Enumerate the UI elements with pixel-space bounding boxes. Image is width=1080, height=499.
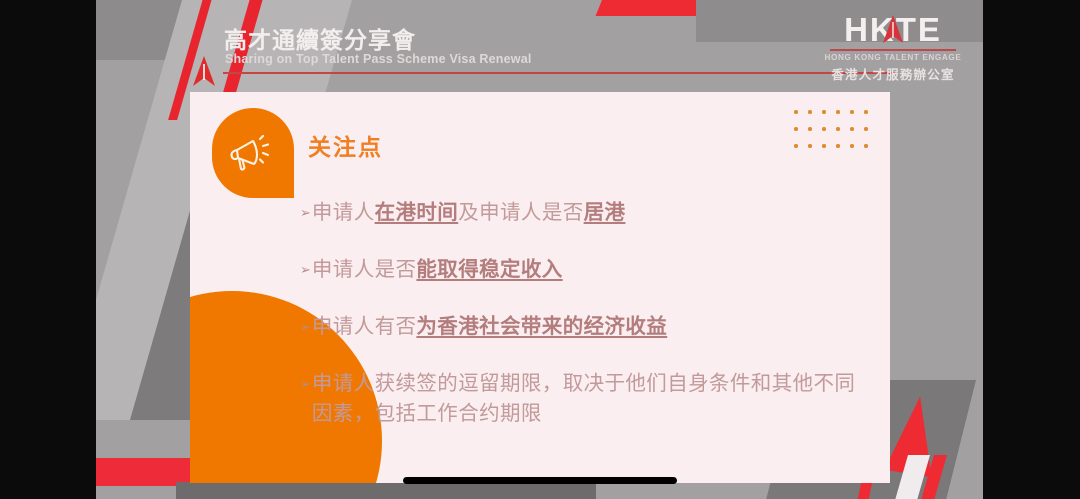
decor-dark-strip-bottom	[176, 482, 596, 499]
bullet-stable-income: ➢申请人是否能取得稳定收入	[300, 255, 870, 285]
bullet-emphasis: 为香港社会带来的经济收益	[416, 315, 667, 338]
page-title: 高才通續簽分享會	[224, 21, 416, 55]
header-divider	[223, 72, 896, 74]
bullet-plain: 申请人	[312, 201, 375, 224]
hkte-logo: HKTE HONG KONG TALENT ENGAGE 香港人才服務辦公室	[819, 12, 967, 78]
decor-dot	[850, 144, 854, 148]
decor-dot	[836, 110, 840, 114]
logo-english-name: HONG KONG TALENT ENGAGE	[819, 53, 967, 62]
decor-dot	[864, 144, 868, 148]
bullet-marker-icon: ➢	[300, 312, 311, 342]
bullet-emphasis: 居港	[584, 201, 626, 224]
decor-dot	[822, 144, 826, 148]
bullet-marker-icon: ➢	[300, 255, 311, 285]
page-subtitle: Sharing on Top Talent Pass Scheme Visa R…	[225, 52, 532, 66]
bullet-text: 申请人有否为香港社会带来的经济收益	[312, 312, 667, 342]
slide-viewer: 高才通續簽分享會 Sharing on Top Talent Pass Sche…	[0, 0, 1080, 499]
decor-dot	[836, 127, 840, 131]
decor-dot	[822, 110, 826, 114]
decor-dot	[822, 127, 826, 131]
dot-grid-decoration	[794, 110, 878, 161]
decor-dot	[794, 127, 798, 131]
bullet-emphasis: 在港时间	[375, 201, 459, 224]
letterbox-left	[0, 0, 96, 499]
bullet-plain: 及申请人是否	[458, 201, 583, 224]
bullet-plain: 申请人有否	[312, 315, 417, 338]
bullet-stay-duration: ➢申请人获续签的逗留期限，取决于他们自身条件和其他不同因素，包括工作合约期限	[300, 369, 870, 429]
decor-dot	[850, 110, 854, 114]
decor-dot	[794, 110, 798, 114]
bullet-text: 申请人在港时间及申请人是否居港	[312, 198, 626, 228]
red-arrow-mark-icon	[192, 55, 216, 87]
bullet-plain: 申请人获续签的逗留期限，取决于他们自身条件和其他不同因素，包括工作合约期限	[312, 372, 855, 425]
decor-dot	[850, 127, 854, 131]
bullet-text: 申请人获续签的逗留期限，取决于他们自身条件和其他不同因素，包括工作合约期限	[312, 369, 870, 429]
bullet-economic-benefit: ➢申请人有否为香港社会带来的经济收益	[300, 312, 870, 342]
logo-arrow-icon	[882, 14, 904, 44]
content-card: 关注点 ➢申请人在港时间及申请人是否居港➢申请人是否能取得稳定收入➢申请人有否为…	[190, 92, 890, 483]
decor-dot	[794, 144, 798, 148]
logo-chinese-name: 香港人才服務辦公室	[819, 64, 967, 83]
decor-dot	[808, 127, 812, 131]
logo-divider	[830, 49, 956, 51]
decor-dot	[808, 110, 812, 114]
bullet-marker-icon: ➢	[300, 369, 311, 399]
key-points-list: ➢申请人在港时间及申请人是否居港➢申请人是否能取得稳定收入➢申请人有否为香港社会…	[300, 198, 870, 429]
bullet-emphasis: 能取得稳定收入	[416, 258, 562, 281]
decor-dot	[864, 127, 868, 131]
megaphone-badge	[212, 108, 294, 198]
bullet-marker-icon: ➢	[300, 198, 311, 228]
video-progress-bar[interactable]	[403, 477, 677, 484]
bullet-text: 申请人是否能取得稳定收入	[312, 255, 563, 285]
letterbox-right	[983, 0, 1080, 499]
decor-dot	[864, 110, 868, 114]
slide-canvas: 高才通續簽分享會 Sharing on Top Talent Pass Sche…	[96, 0, 983, 499]
bullet-time-in-hk: ➢申请人在港时间及申请人是否居港	[300, 198, 870, 228]
bullet-plain: 申请人是否	[312, 258, 417, 281]
slide-header: 高才通續簽分享會 Sharing on Top Talent Pass Sche…	[96, 0, 983, 92]
decor-dot	[836, 144, 840, 148]
decor-dot	[808, 144, 812, 148]
card-heading: 关注点	[308, 128, 383, 162]
